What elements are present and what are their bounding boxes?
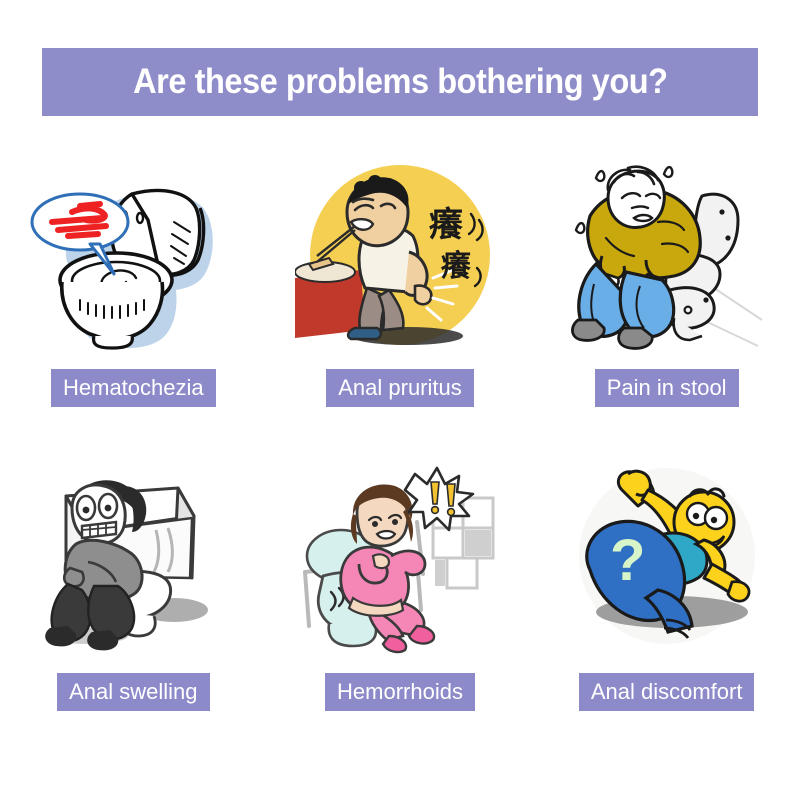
symptom-label-hematochezia: Hematochezia bbox=[51, 369, 216, 407]
symptom-card-hemorrhoids[interactable]: Hemorrhoids bbox=[267, 460, 534, 760]
symptom-label-anal-swelling: Anal swelling bbox=[57, 673, 209, 711]
symptom-card-anal-pruritus[interactable]: 癢 癢 Anal pruritus bbox=[267, 160, 534, 460]
symptom-card-pain-in-stool[interactable]: Pain in stool bbox=[533, 160, 800, 460]
symptom-card-anal-discomfort[interactable]: ? Anal discomfort bbox=[533, 460, 800, 760]
man-scratching-itch-yellow-circle-icon: 癢 癢 bbox=[295, 160, 505, 355]
symptom-label-anal-pruritus: Anal pruritus bbox=[326, 369, 474, 407]
symptom-grid: Hematochezia bbox=[0, 160, 800, 760]
elderly-man-straining-on-toilet-icon bbox=[562, 160, 772, 355]
symptom-label-anal-discomfort: Anal discomfort bbox=[579, 673, 755, 711]
header-banner: Are these problems bothering you? bbox=[42, 48, 758, 116]
symptom-label-hemorrhoids: Hemorrhoids bbox=[325, 673, 475, 711]
symptom-card-anal-swelling[interactable]: Anal swelling bbox=[0, 460, 267, 760]
question-mark-glyph: ? bbox=[610, 528, 645, 593]
cjk-itchy-1: 癢 bbox=[429, 205, 463, 245]
woman-in-pink-pajamas-on-toilet-icon bbox=[295, 460, 505, 655]
page-title: Are these problems bothering you? bbox=[133, 62, 667, 102]
symptom-card-hematochezia[interactable]: Hematochezia bbox=[0, 160, 267, 460]
toilet-with-blood-speech-bubble-icon bbox=[28, 160, 238, 355]
symptom-label-pain-in-stool: Pain in stool bbox=[595, 369, 739, 407]
cjk-itchy-2: 癢 bbox=[441, 249, 471, 284]
grayscale-man-on-toilet-icon bbox=[28, 460, 238, 655]
yellow-cartoon-man-bending-over-icon: ? bbox=[562, 460, 772, 655]
